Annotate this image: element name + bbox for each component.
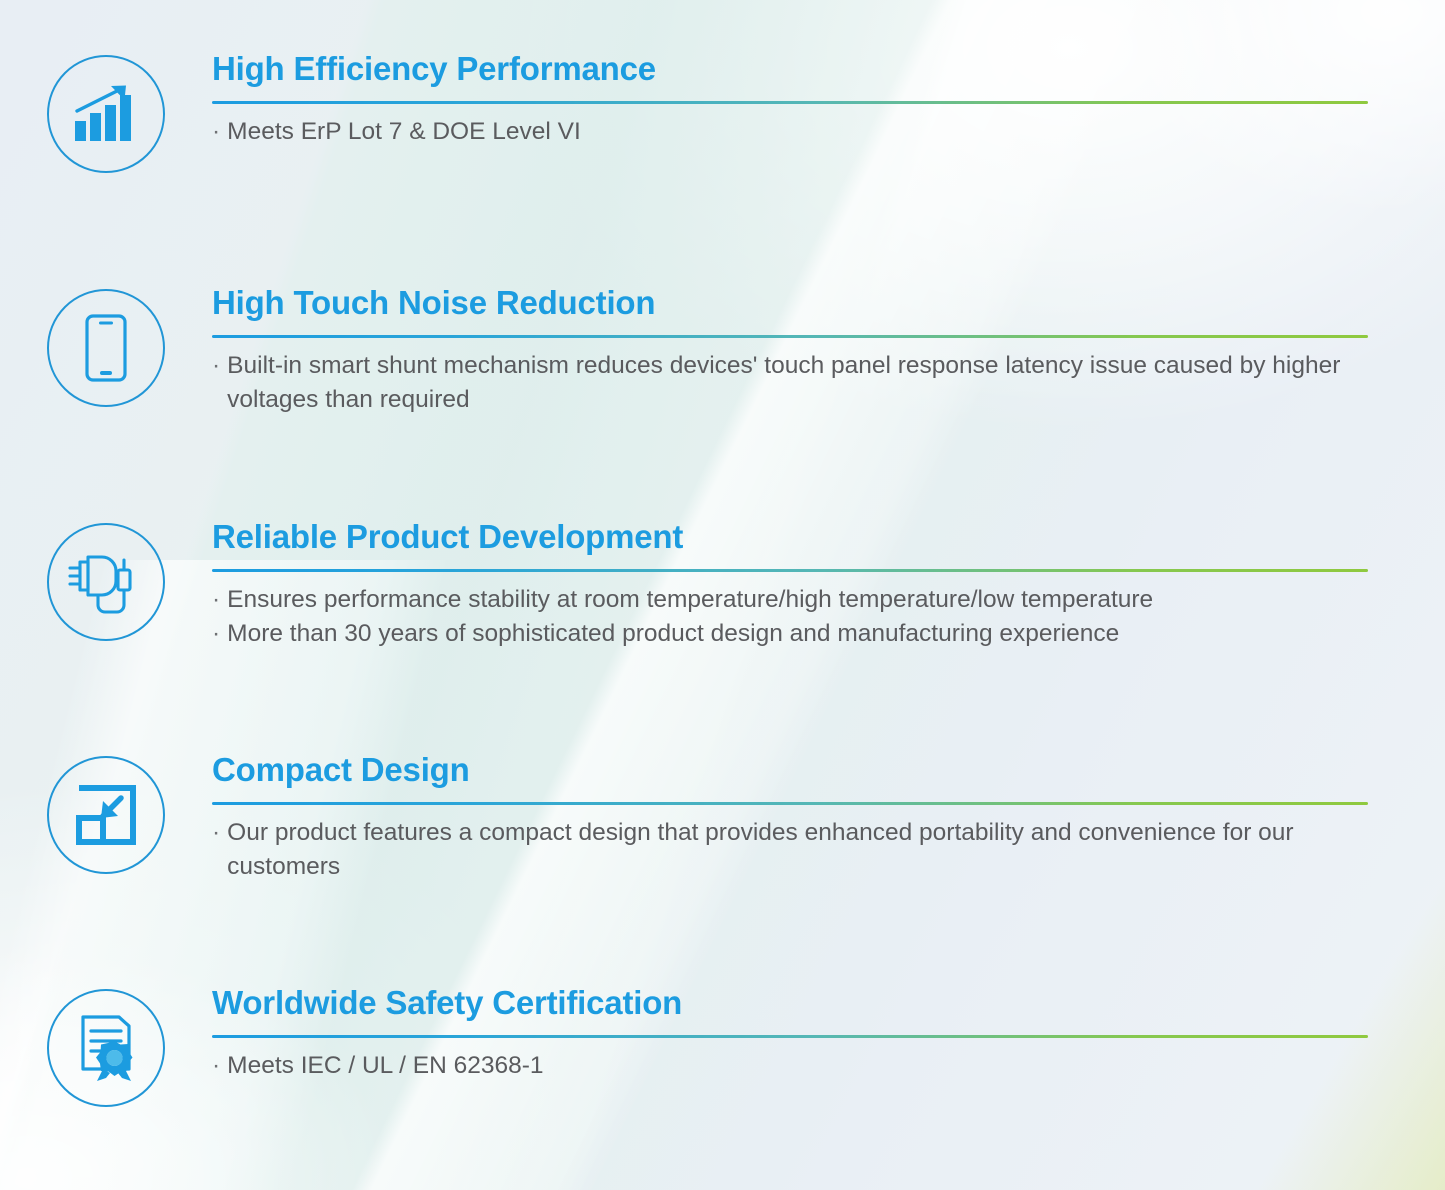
smartphone-icon [47, 289, 165, 407]
bullet-marker: · [212, 816, 220, 851]
bullet-marker: · [212, 583, 220, 618]
bullet-text: Meets IEC / UL / EN 62368-1 [227, 1049, 1368, 1084]
feature-icon-cell [0, 752, 212, 874]
bullet-marker: · [212, 349, 220, 384]
feature-text-cell: High Touch Noise Reduction · Built-in sm… [212, 285, 1445, 418]
certificate-seal-icon [47, 989, 165, 1107]
bullet-text: More than 30 years of sophisticated prod… [227, 617, 1368, 652]
feature-bullet: · Meets ErP Lot 7 & DOE Level VI [212, 115, 1368, 150]
feature-bullet: · Meets IEC / UL / EN 62368-1 [212, 1049, 1368, 1084]
feature-title: High Efficiency Performance [212, 51, 1368, 87]
power-adapter-icon [47, 523, 165, 641]
feature-text-cell: Worldwide Safety Certification · Meets I… [212, 985, 1445, 1083]
feature-bullet: · Built-in smart shunt mechanism reduces… [212, 349, 1368, 419]
feature-divider [212, 101, 1368, 104]
feature-divider [212, 802, 1368, 805]
bullet-marker: · [212, 1049, 220, 1084]
feature-title: High Touch Noise Reduction [212, 285, 1368, 321]
feature-item-compact-design: Compact Design · Our product features a … [0, 752, 1445, 885]
feature-title: Worldwide Safety Certification [212, 985, 1368, 1021]
feature-bullet: · Our product features a compact design … [212, 816, 1368, 886]
feature-bullet-list: · Our product features a compact design … [212, 816, 1368, 886]
feature-bullet: · More than 30 years of sophisticated pr… [212, 617, 1368, 652]
feature-highlights-page: High Efficiency Performance · Meets ErP … [0, 0, 1445, 1190]
bullet-text: Meets ErP Lot 7 & DOE Level VI [227, 115, 1368, 150]
feature-title: Reliable Product Development [212, 519, 1368, 555]
feature-icon-cell [0, 985, 212, 1107]
feature-icon-cell [0, 285, 212, 407]
feature-bullet-list: · Built-in smart shunt mechanism reduces… [212, 349, 1368, 419]
bullet-marker: · [212, 617, 220, 652]
feature-title: Compact Design [212, 752, 1368, 788]
feature-icon-cell [0, 51, 212, 173]
compact-resize-icon [47, 756, 165, 874]
feature-bullet-list: · Meets IEC / UL / EN 62368-1 [212, 1049, 1368, 1084]
feature-bullet-list: · Meets ErP Lot 7 & DOE Level VI [212, 115, 1368, 150]
feature-text-cell: High Efficiency Performance · Meets ErP … [212, 51, 1445, 149]
feature-divider [212, 335, 1368, 338]
feature-item-worldwide-safety-certification: Worldwide Safety Certification · Meets I… [0, 985, 1445, 1107]
feature-item-high-efficiency-performance: High Efficiency Performance · Meets ErP … [0, 51, 1445, 173]
feature-bullet-list: · Ensures performance stability at room … [212, 583, 1368, 653]
bullet-text: Our product features a compact design th… [227, 816, 1368, 886]
feature-divider [212, 569, 1368, 572]
feature-item-high-touch-noise-reduction: High Touch Noise Reduction · Built-in sm… [0, 285, 1445, 418]
bullet-text: Ensures performance stability at room te… [227, 583, 1368, 618]
feature-divider [212, 1035, 1368, 1038]
feature-icon-cell [0, 519, 212, 641]
feature-item-reliable-product-development: Reliable Product Development · Ensures p… [0, 519, 1445, 652]
feature-bullet: · Ensures performance stability at room … [212, 583, 1368, 618]
feature-text-cell: Reliable Product Development · Ensures p… [212, 519, 1445, 652]
bar-chart-growth-icon [47, 55, 165, 173]
bullet-text: Built-in smart shunt mechanism reduces d… [227, 349, 1368, 419]
feature-text-cell: Compact Design · Our product features a … [212, 752, 1445, 885]
bullet-marker: · [212, 115, 220, 150]
